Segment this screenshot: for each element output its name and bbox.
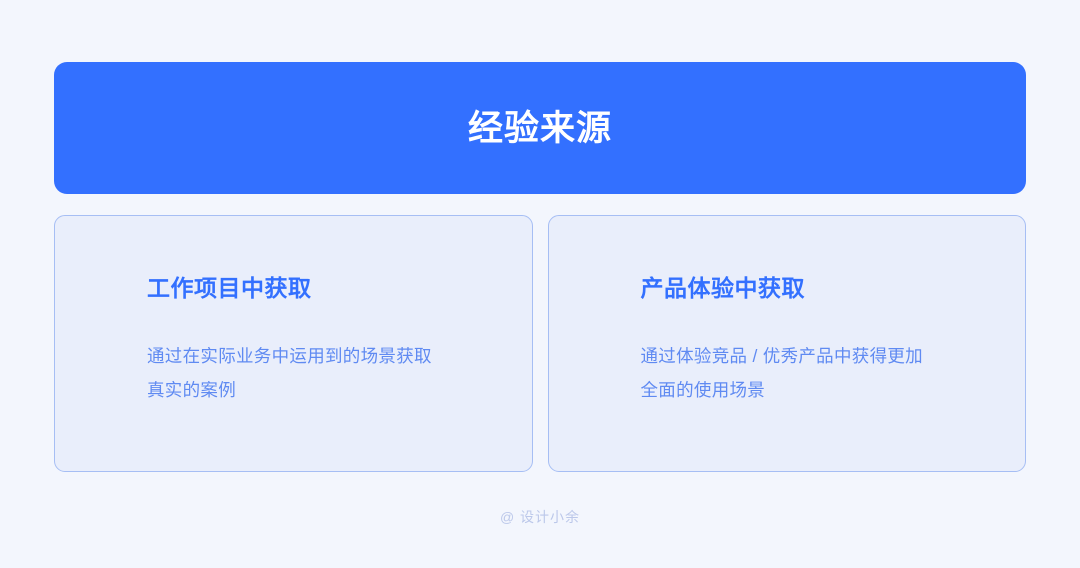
card-title: 产品体验中获取 xyxy=(641,274,986,303)
card-title: 工作项目中获取 xyxy=(147,274,492,303)
page-title: 经验来源 xyxy=(468,111,612,146)
slide-canvas: 经验来源 工作项目中获取 通过在实际业务中运用到的场景获取真实的案例 产品体验中… xyxy=(0,0,1080,568)
card-work-project[interactable]: 工作项目中获取 通过在实际业务中运用到的场景获取真实的案例 xyxy=(54,215,533,472)
card-body: 通过体验竞品 / 优秀产品中获得更加全面的使用场景 xyxy=(641,339,941,407)
card-body: 通过在实际业务中运用到的场景获取真实的案例 xyxy=(147,339,447,407)
cards-row: 工作项目中获取 通过在实际业务中运用到的场景获取真实的案例 产品体验中获取 通过… xyxy=(54,215,1026,472)
header-banner: 经验来源 xyxy=(54,62,1026,194)
watermark-label: @ 设计小余 xyxy=(0,507,1080,527)
card-product-experience[interactable]: 产品体验中获取 通过体验竞品 / 优秀产品中获得更加全面的使用场景 xyxy=(548,215,1027,472)
